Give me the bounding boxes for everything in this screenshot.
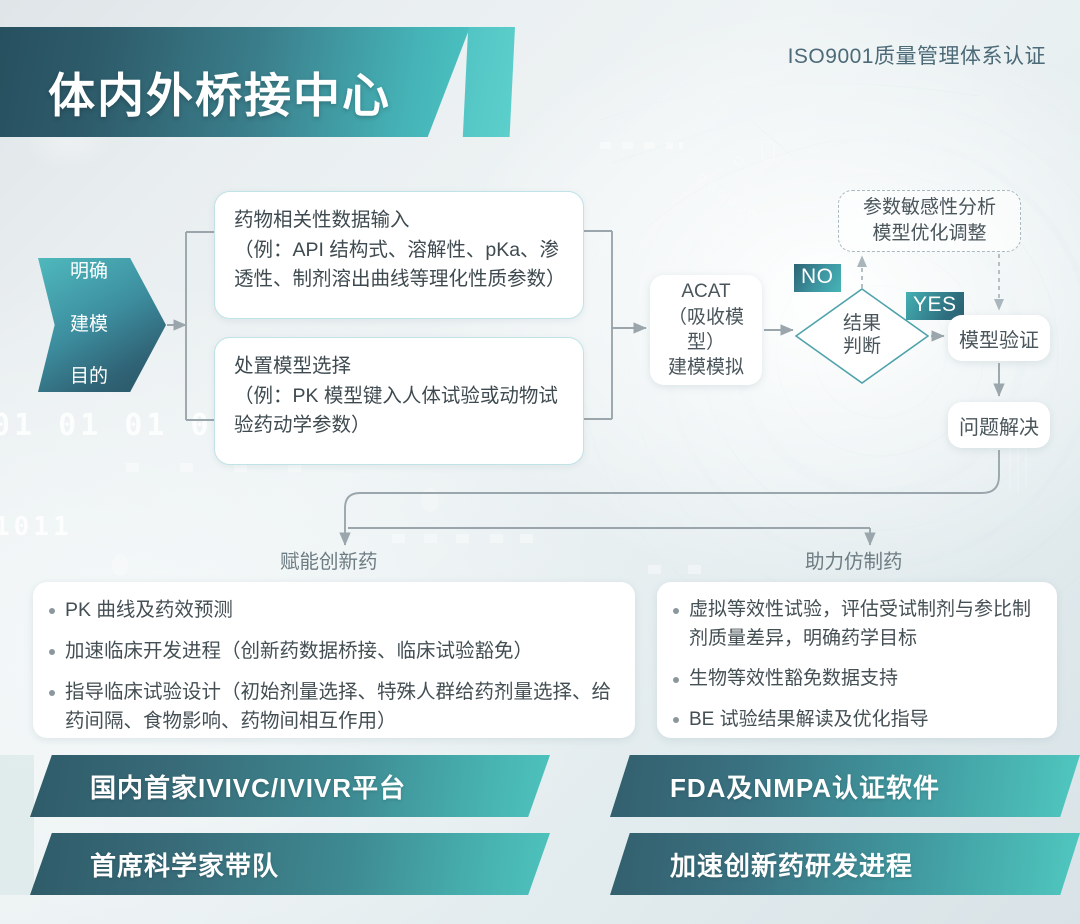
input-box-drug-text: 药物相关性数据输入 （例：API 结构式、溶解性、pKa、渗透性、制剂溶出曲线等… — [215, 192, 583, 308]
feature-banner-0-label: 国内首家IVIVC/IVIVR平台 — [90, 755, 406, 817]
bullet-icon — [673, 677, 689, 683]
bullet-icon — [673, 717, 689, 723]
input-box-model-selection[interactable]: 处置模型选择 （例：PK 模型键入人体试验或动物试验药动学参数） — [214, 337, 584, 465]
process-node-problem-solving[interactable]: 问题解决 — [948, 402, 1050, 448]
bullet-icon — [49, 608, 65, 614]
list-item: 生物等效性豁免数据支持 — [673, 665, 1043, 694]
note-sensitivity-analysis-label: 参数敏感性分析 模型优化调整 — [863, 195, 996, 247]
feature-banner-3-label: 加速创新药研发进程 — [670, 833, 913, 895]
bottom-left-tint — [0, 755, 34, 895]
outcome-list-generic-drugs: 虚拟等效性试验，评估受试制剂与参比制剂质量差异，明确药学目标 生物等效性豁免数据… — [657, 582, 1057, 738]
branch-badge-no: NO — [794, 264, 841, 292]
feature-banner-1-label: FDA及NMPA认证软件 — [670, 755, 940, 817]
process-node-model-verification[interactable]: 模型验证 — [948, 315, 1050, 361]
input-box-model-text: 处置模型选择 （例：PK 模型键入人体试验或动物试验药动学参数） — [215, 338, 583, 454]
list-item-text: 指导临床试验设计（初始剂量选择、特殊人群给药剂量选择、给药间隔、食物影响、药物间… — [65, 678, 621, 736]
header-banner: 体内外桥接中心 — [0, 27, 520, 137]
outcome-list-innovative-drugs: PK 曲线及药效预测 加速临床开发进程（创新药数据桥接、临床试验豁免） 指导临床… — [33, 582, 635, 738]
section-label-innovative-drugs: 赋能创新药 — [280, 545, 378, 574]
section-label-generic-drugs: 助力仿制药 — [805, 545, 903, 574]
bullet-icon — [49, 690, 65, 696]
input-box-drug-data[interactable]: 药物相关性数据输入 （例：API 结构式、溶解性、pKa、渗透性、制剂溶出曲线等… — [214, 191, 584, 319]
list-item-text: BE 试验结果解读及优化指导 — [689, 706, 1043, 735]
feature-banner-0[interactable]: 国内首家IVIVC/IVIVR平台 — [30, 755, 550, 817]
list-item: 加速临床开发进程（创新药数据桥接、临床试验豁免） — [49, 637, 621, 666]
feature-banner-2[interactable]: 首席科学家带队 — [30, 833, 550, 895]
list-item: 虚拟等效性试验，评估受试制剂与参比制剂质量差异，明确药学目标 — [673, 596, 1043, 653]
process-node-acat[interactable]: ACAT （吸收模型） 建模模拟 — [650, 275, 762, 385]
feature-banner-1[interactable]: FDA及NMPA认证软件 — [610, 755, 1080, 817]
list-item-text: 生物等效性豁免数据支持 — [689, 665, 1043, 694]
header-band-accent — [455, 27, 515, 137]
bullet-icon — [49, 649, 65, 655]
list-item-text: 加速临床开发进程（创新药数据桥接、临床试验豁免） — [65, 637, 621, 666]
infographic-page: 01 01 01 01 01 01 1011 体内外桥接中心 ISO9001质量… — [0, 0, 1080, 924]
input-box-drug-title: 药物相关性数据输入 — [234, 206, 566, 236]
list-item: PK 曲线及药效预测 — [49, 596, 621, 625]
list-item-text: PK 曲线及药效预测 — [65, 596, 621, 625]
note-sensitivity-analysis[interactable]: 参数敏感性分析 模型优化调整 — [838, 190, 1021, 252]
list-item-text: 虚拟等效性试验，评估受试制剂与参比制剂质量差异，明确药学目标 — [689, 596, 1043, 653]
feature-banner-2-label: 首席科学家带队 — [90, 833, 279, 895]
input-box-model-detail: （例：PK 模型键入人体试验或动物试验药动学参数） — [234, 382, 566, 441]
bullet-icon — [673, 608, 689, 614]
certification-label: ISO9001质量管理体系认证 — [788, 40, 1046, 70]
list-item: BE 试验结果解读及优化指导 — [673, 706, 1043, 735]
background-binary-2: 1011 — [0, 512, 73, 542]
input-box-model-title: 处置模型选择 — [234, 352, 566, 382]
list-item: 指导临床试验设计（初始剂量选择、特殊人群给药剂量选择、给药间隔、食物影响、药物间… — [49, 678, 621, 736]
feature-banner-3[interactable]: 加速创新药研发进程 — [610, 833, 1080, 895]
page-title: 体内外桥接中心 — [48, 57, 391, 126]
process-node-acat-label: ACAT （吸收模型） 建模模拟 — [650, 279, 762, 381]
input-box-drug-detail: （例：API 结构式、溶解性、pKa、渗透性、制剂溶出曲线等理化性质参数） — [234, 236, 566, 295]
